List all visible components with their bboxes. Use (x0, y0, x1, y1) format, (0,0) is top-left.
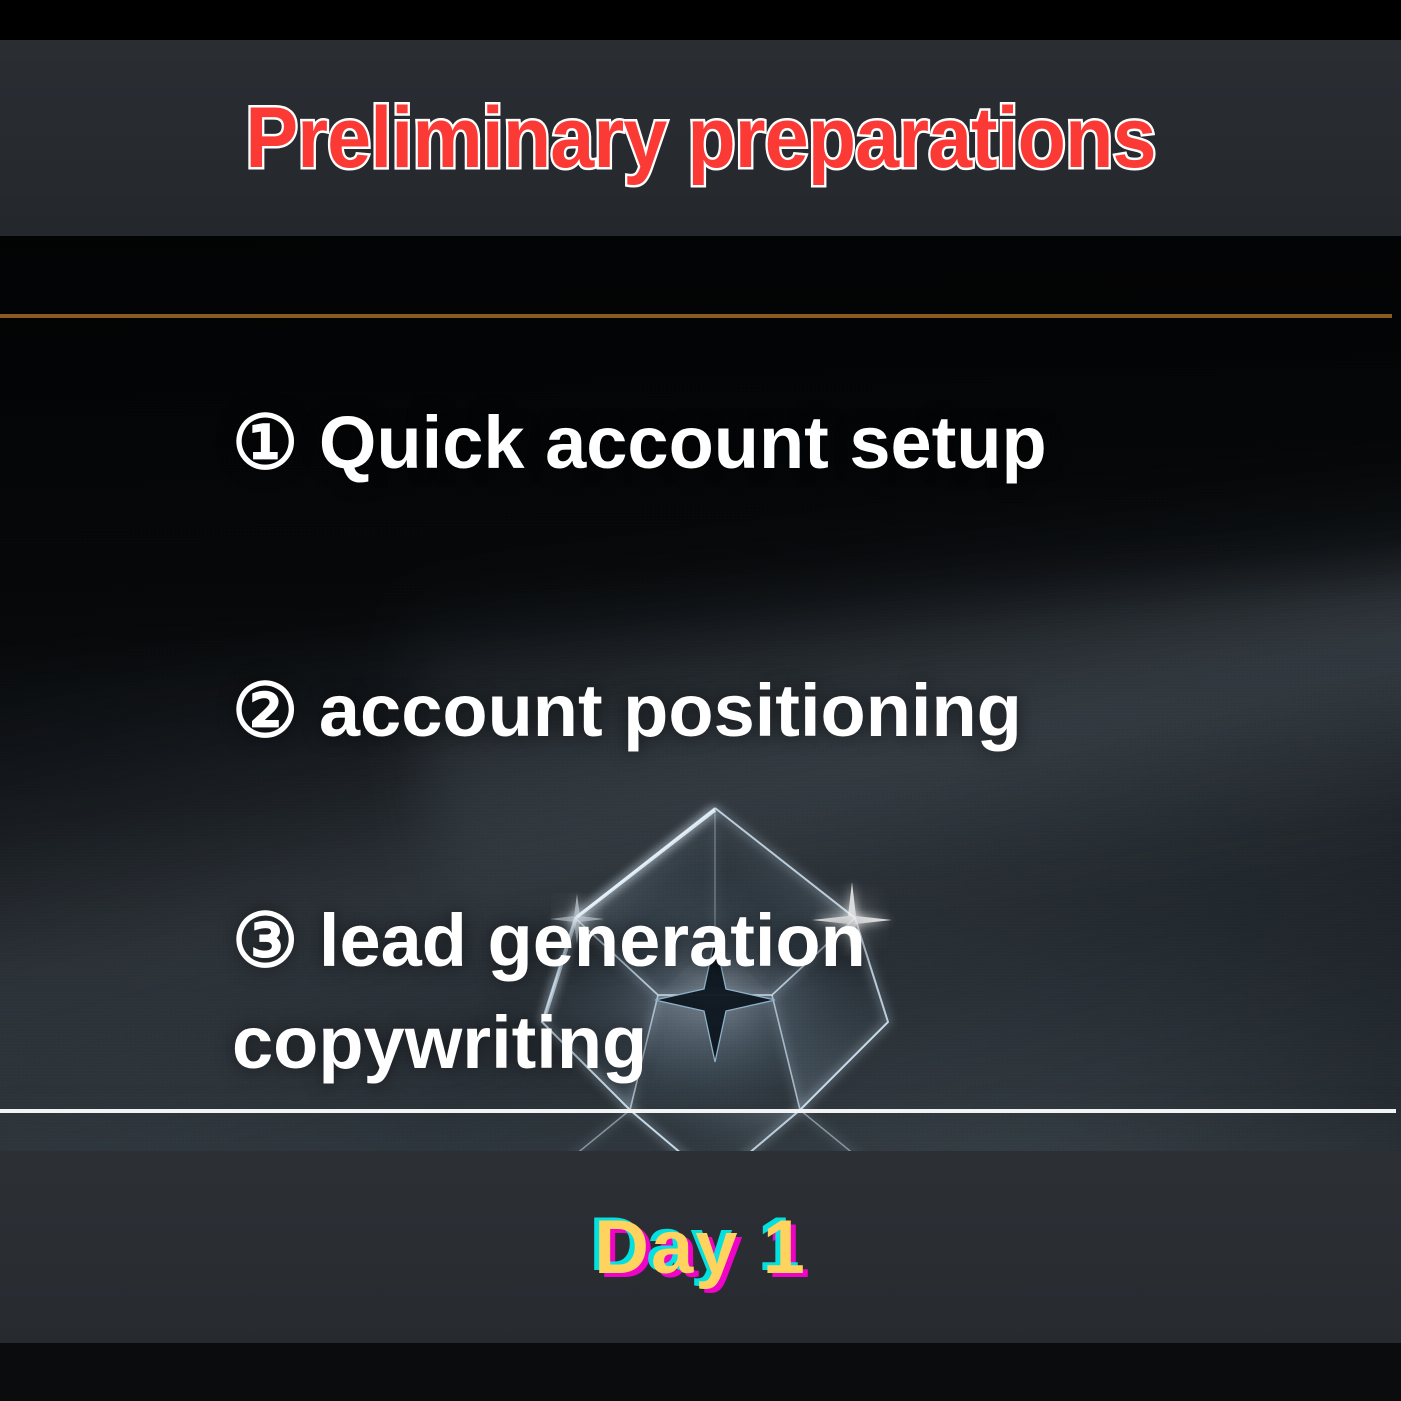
divider-white (0, 1109, 1396, 1113)
list-item: ③ lead generation copywriting (232, 890, 992, 1094)
list-item-marker: ② (232, 669, 319, 752)
top-black-strip (0, 0, 1401, 40)
list-item: ② account positioning (232, 660, 1022, 762)
list-item-marker: ① (232, 401, 319, 484)
list-item-label: Quick account setup (319, 401, 1047, 484)
list-item-marker: ③ (232, 899, 319, 982)
list-item-label: account positioning (319, 669, 1022, 752)
list-item: ① Quick account setup (232, 392, 1047, 494)
divider-orange (0, 314, 1392, 318)
slide-canvas: Preliminary preparations ① Quick account… (0, 0, 1401, 1401)
bottom-black-strip (0, 1343, 1401, 1401)
page-title: Preliminary preparations (56, 40, 1345, 236)
list-item-label: lead generation copywriting (232, 899, 866, 1084)
day-counter-label: Day 1 (0, 1151, 1401, 1343)
